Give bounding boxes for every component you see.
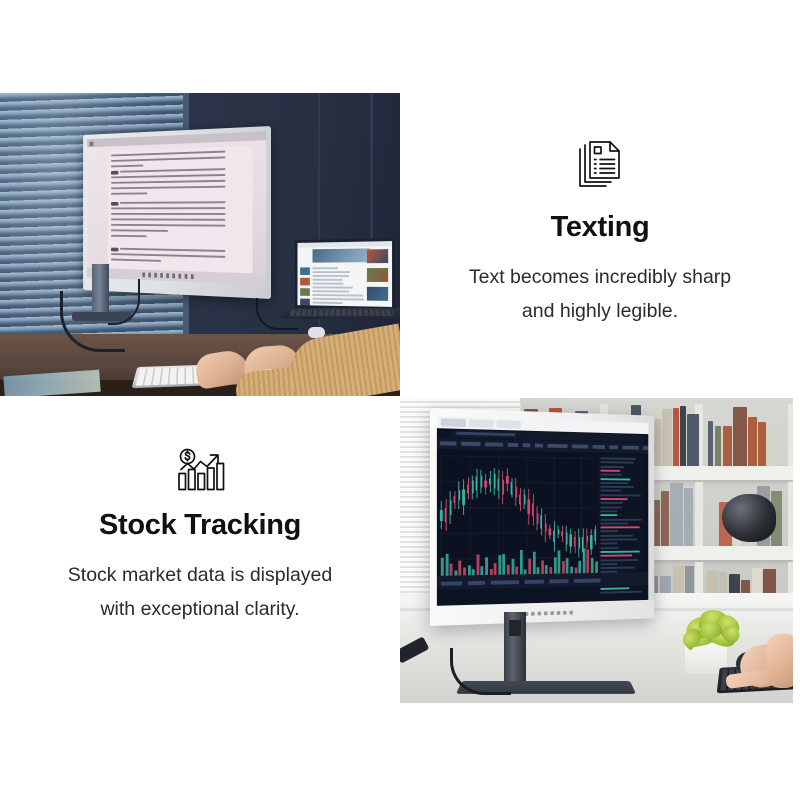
taskbar-icon: [154, 273, 157, 278]
book: [670, 483, 683, 546]
feature-stock-tracking: Stock Tracking Stock market data is disp…: [0, 448, 400, 658]
feature-body-line2: and highly legible.: [522, 300, 678, 322]
order-book-row: [601, 494, 641, 496]
feature-title-texting: Texting: [551, 212, 650, 244]
toolbar-item: [572, 444, 588, 448]
shelf-ornament: [722, 494, 776, 542]
laptop-browser-topbar: [298, 241, 393, 248]
document-text-line: [120, 201, 225, 203]
laptop-text-line: [313, 302, 343, 304]
stock-photo: [400, 398, 793, 703]
document-text-line: [120, 248, 225, 252]
volume-bar: [528, 559, 531, 574]
taskbar-icon: [160, 273, 163, 278]
book: [661, 491, 669, 546]
trading-app: [437, 438, 648, 590]
book: [768, 425, 776, 466]
shelf-divider: [695, 482, 703, 546]
laptop: [283, 238, 395, 323]
document-text-line: [111, 151, 225, 156]
volume-bar: [566, 558, 569, 574]
taskbar-icon: [172, 274, 175, 279]
candlestick: [570, 534, 572, 546]
candlestick: [462, 489, 464, 505]
feature-body-line1: Text becomes incredibly sharp: [469, 266, 731, 288]
order-book-row: [601, 531, 619, 533]
book: [708, 421, 714, 466]
stock-chart-dollar-icon: [174, 448, 226, 494]
laptop-hero-image: [313, 248, 370, 262]
volume-bar: [507, 564, 510, 574]
candlestick: [519, 495, 521, 505]
wall-seam-secondary: [370, 93, 373, 243]
feature-body-stock: Stock market data is displayed with exce…: [68, 558, 332, 626]
toolbar-item: [548, 444, 568, 448]
document-text-line: [111, 156, 225, 161]
order-book-row: [601, 498, 628, 500]
shelf-divider: [788, 482, 793, 546]
candlestick: [528, 500, 530, 514]
candlestick: [557, 530, 559, 535]
book: [662, 409, 672, 466]
browser-tab: [497, 420, 521, 429]
feature-texting: Texting Text becomes incredibly sharp an…: [400, 140, 800, 350]
toolbar-item: [485, 442, 503, 446]
document-text-line: [111, 213, 225, 215]
monitor-screen-document: [87, 131, 266, 285]
document-drop-cap: [111, 202, 118, 206]
toolbar-item: [622, 446, 638, 450]
volume-bar: [485, 557, 488, 575]
order-book-row: [601, 526, 640, 528]
order-book-row: [601, 567, 635, 569]
document-text-line: [111, 253, 225, 257]
candlestick: [493, 474, 495, 489]
order-book-row: [601, 518, 642, 520]
volume-bar: [541, 561, 544, 574]
book: [758, 422, 766, 466]
laptop-text-line: [313, 283, 344, 285]
candlestick: [540, 515, 542, 529]
candlestick: [480, 476, 482, 488]
order-book-row: [601, 587, 630, 590]
taskbar-icon: [148, 273, 151, 278]
toolbar-item: [609, 445, 618, 449]
candlestick: [449, 500, 451, 515]
document-text-line: [111, 207, 225, 209]
toolbar-item: [535, 444, 543, 448]
volume-bar: [463, 567, 466, 575]
order-book-row: [601, 591, 642, 594]
order-book-row: [601, 555, 633, 557]
order-book-row: [601, 486, 635, 488]
order-book-row: [601, 514, 617, 516]
volume-bar: [494, 563, 497, 575]
candlestick: [511, 482, 513, 494]
volume-bar: [587, 549, 590, 573]
laptop-side-thumbnail: [367, 287, 388, 301]
order-book-row: [601, 559, 638, 561]
laptop-text-line: [313, 290, 350, 292]
order-book-row: [601, 506, 622, 508]
laptop-text-line: [313, 271, 350, 273]
book: [723, 426, 732, 466]
shelf-divider: [788, 404, 793, 466]
toolbar-item: [523, 443, 530, 447]
volume-bar: [591, 557, 594, 573]
order-book-row: [601, 538, 638, 540]
volume-bar: [562, 561, 565, 573]
volume-bar: [481, 566, 484, 575]
bottom-tab: [491, 580, 519, 584]
candlestick: [532, 504, 534, 516]
toolbar-item: [593, 445, 605, 449]
candlestick: [549, 529, 551, 536]
bottom-tab: [549, 579, 568, 583]
toolbar-item: [461, 442, 480, 446]
order-book-row: [601, 457, 636, 460]
candlestick: [565, 532, 567, 545]
book: [748, 417, 756, 466]
taskbar-icon: [185, 274, 188, 279]
document-text-line: [111, 218, 225, 220]
browser-tab: [441, 418, 466, 427]
laptop-side-thumbnail: [367, 268, 388, 282]
book: [733, 407, 747, 466]
bottom-tab: [525, 580, 544, 584]
volume-bar: [520, 550, 523, 575]
volume-bar: [468, 565, 471, 575]
candlestick: [536, 514, 538, 524]
plant-leaf: [700, 622, 722, 638]
laptop-text-line: [313, 305, 344, 307]
candlestick: [545, 524, 547, 532]
monitor-control-icon: [544, 611, 548, 615]
order-book-row: [601, 490, 621, 492]
volume-bar: [450, 564, 453, 576]
document-text-line: [111, 224, 225, 226]
volume-bar: [445, 554, 448, 575]
candlestick: [467, 484, 469, 493]
taskbar-icon: [191, 274, 194, 279]
candlestick: [506, 476, 508, 483]
book: [684, 488, 693, 546]
laptop-side-thumbnail: [367, 249, 388, 263]
order-book-row: [601, 466, 625, 468]
laptop-thumbnail: [300, 278, 310, 286]
volume-bar: [503, 554, 506, 574]
laptop-thumbnail: [300, 299, 310, 307]
laptop-text-line: [313, 298, 364, 300]
toolbar-item: [508, 443, 518, 447]
laptop-lid: [295, 238, 395, 311]
book: [673, 408, 678, 466]
book: [680, 406, 686, 466]
document-text-line: [111, 165, 144, 167]
order-book-panel: [598, 454, 645, 572]
document-drop-cap: [111, 170, 118, 174]
candlestick: [502, 480, 504, 495]
candlestick: [586, 536, 588, 542]
candlestick: [454, 497, 456, 504]
volume-bar: [533, 551, 536, 574]
laptop-screen-webpage: [298, 241, 393, 307]
candlestick: [484, 481, 486, 488]
order-book-row: [601, 482, 629, 484]
book: [715, 426, 722, 466]
document-text-line: [111, 174, 225, 178]
monitor-control-icon: [550, 611, 554, 615]
laptop-text-line: [313, 267, 338, 269]
volume-bar: [498, 556, 501, 575]
volume-bar: [441, 558, 444, 576]
feature-body-line1: Stock market data is displayed: [68, 564, 332, 586]
order-book-row: [601, 547, 619, 549]
taskbar-icon: [142, 272, 145, 277]
laptop-text-line: [313, 279, 343, 281]
volume-bar: [545, 565, 548, 574]
order-book-row: [601, 522, 628, 524]
document-drop-cap: [111, 247, 118, 251]
volume-bar: [476, 554, 479, 575]
volume-bar: [558, 551, 561, 574]
candlestick: [445, 508, 447, 521]
feature-body-texting: Text becomes incredibly sharp and highly…: [469, 260, 731, 328]
order-book-row: [601, 470, 621, 472]
candlestick: [440, 510, 442, 521]
order-book-row: [601, 474, 622, 476]
feature-body-line2: with exceptional clarity.: [100, 598, 299, 620]
forearm: [766, 634, 793, 688]
monitor-control-icon: [531, 612, 535, 616]
desktop-monitor: [430, 408, 654, 626]
document-text-line: [120, 168, 225, 172]
document-text-line: [111, 259, 161, 262]
monitor-control-icon: [538, 612, 542, 616]
page-root: Texting Text becomes incredibly sharp an…: [0, 0, 800, 800]
candlestick: [458, 490, 460, 500]
laptop-text-line: [313, 275, 350, 276]
toolbar-item: [440, 441, 457, 445]
candlestick: [574, 537, 576, 547]
monitor-screen-trading: [437, 416, 648, 606]
taskbar-icon: [179, 274, 182, 279]
candlestick: [553, 531, 555, 543]
order-book-row: [601, 563, 617, 565]
order-book-row: [601, 502, 623, 504]
document-text-line: [111, 180, 225, 184]
volume-chart: [441, 546, 596, 575]
browser-tab: [469, 419, 494, 428]
portable-monitor: [83, 126, 271, 299]
bottom-tab: [574, 579, 601, 583]
document-text-line: [111, 186, 225, 189]
laptop-text-line: [313, 286, 353, 288]
document-page: [108, 146, 253, 275]
order-book-row: [601, 510, 618, 512]
order-book-row: [601, 543, 618, 545]
monitor-control-icon: [557, 611, 561, 615]
volume-bar: [511, 559, 514, 575]
document-pages-icon: [577, 140, 623, 190]
toolbar-item: [643, 446, 648, 450]
volume-bar: [579, 561, 582, 573]
order-book-row: [601, 478, 630, 480]
order-book-row: [601, 461, 634, 463]
taskbar-icon: [166, 273, 169, 278]
feature-title-stock: Stock Tracking: [99, 510, 301, 542]
laptop-text-line: [313, 294, 363, 296]
bottom-tab: [441, 581, 462, 585]
candlestick: [561, 531, 563, 536]
order-book-row: [601, 551, 641, 553]
candlestick: [515, 487, 517, 498]
texting-photo: [0, 93, 400, 396]
candlestick-chart: [441, 451, 596, 560]
candlestick: [489, 478, 491, 485]
monitor-control-icon: [569, 611, 573, 615]
book: [687, 414, 699, 466]
document-text-line: [111, 192, 148, 194]
document-text-line: [111, 235, 147, 237]
bottom-tab: [468, 581, 485, 585]
order-book-row: [601, 534, 633, 536]
document-text-line: [111, 229, 168, 231]
candlestick: [594, 529, 596, 541]
candlestick: [471, 481, 473, 493]
volume-bar: [554, 557, 557, 573]
laptop-thumbnail: [300, 288, 310, 296]
monitor-control-icon: [563, 611, 567, 615]
laptop-thumbnail: [300, 267, 310, 275]
volume-bar: [583, 549, 586, 573]
laptop-keyboard: [290, 310, 395, 317]
candlestick: [476, 477, 478, 491]
candlestick: [523, 494, 525, 504]
volume-bar: [459, 561, 462, 576]
volume-bar: [515, 567, 518, 575]
monitor-stand-joint: [509, 620, 521, 636]
titlebar-icon: [89, 141, 93, 146]
candlestick: [498, 479, 500, 491]
